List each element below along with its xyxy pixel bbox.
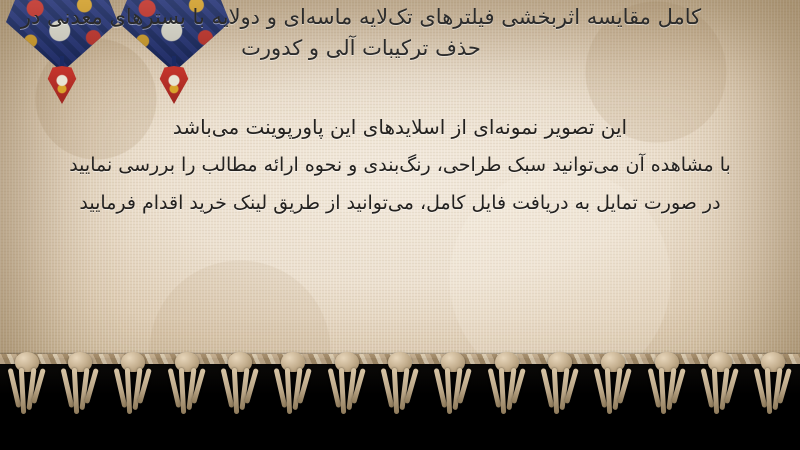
medallion-drop <box>157 66 191 104</box>
fringe-tassel <box>590 352 636 416</box>
fringe-tassel <box>377 352 423 416</box>
fringe-tassel <box>4 352 50 416</box>
fringe-tassel <box>270 352 316 416</box>
fringe-tassel <box>324 352 370 416</box>
fringe-tassel <box>697 352 743 416</box>
slide-title: کامل مقایسه اثربخشی فیلترهای تک‌لایه ماس… <box>0 2 800 64</box>
tassel-strand <box>712 368 719 414</box>
tassel-strand <box>285 368 292 414</box>
fringe-tassel <box>484 352 530 416</box>
fringe-tassel <box>644 352 690 416</box>
fringe-tassel <box>537 352 583 416</box>
tassel-strand <box>765 368 772 414</box>
tassel-strand <box>552 368 559 414</box>
tassel-strand <box>392 368 399 414</box>
tassel-strand <box>125 368 132 414</box>
tassel-strand <box>72 368 79 414</box>
carpet-fringe <box>0 352 800 416</box>
tassel-strand <box>445 368 452 414</box>
body-line-3: در صورت تمایل به دریافت فایل کامل، می‌تو… <box>0 184 800 222</box>
fringe-tassel <box>430 352 476 416</box>
fringe-tassel <box>217 352 263 416</box>
fringe-tassel <box>57 352 103 416</box>
body-line-1: این تصویر نمونه‌ای از اسلایدهای این پاور… <box>0 108 800 146</box>
medallion-drop <box>45 66 79 104</box>
fringe-tassel <box>750 352 796 416</box>
fringe-tassel <box>164 352 210 416</box>
slide-body: این تصویر نمونه‌ای از اسلایدهای این پاور… <box>0 108 800 222</box>
tassel-strand <box>232 368 239 414</box>
body-line-2: با مشاهده آن می‌توانید سبک طراحی، رنگ‌بن… <box>0 146 800 184</box>
fringe-tassel <box>110 352 156 416</box>
slide-canvas: کامل مقایسه اثربخشی فیلترهای تک‌لایه ماس… <box>0 0 800 450</box>
tassel-strand <box>605 368 612 414</box>
